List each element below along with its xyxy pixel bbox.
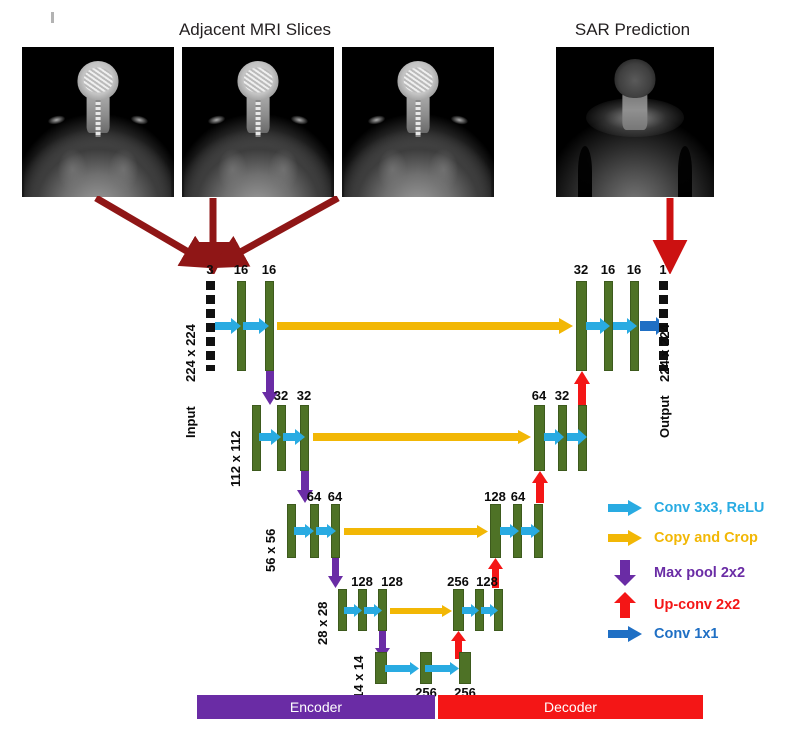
legend-item-conv-1x1: Conv 1x1 <box>608 626 718 642</box>
dec-l3-ch-2: 64 <box>511 489 525 504</box>
sar-prediction-image <box>556 47 714 197</box>
dec-l4-conv-arrows <box>462 604 500 617</box>
enc-l2-conv-arrows <box>259 429 307 445</box>
unet-sar-figure: { "figure": { "title_left": "Adjacent MR… <box>0 0 790 732</box>
mri-slice-3 <box>342 47 494 197</box>
sar-panel-title: SAR Prediction <box>545 20 720 40</box>
skip-l1-copy-crop <box>277 318 573 334</box>
up-conv-arrow-icon <box>608 592 642 618</box>
enc-l3-ch-2: 64 <box>328 489 342 504</box>
enc-l4-ch-1: 128 <box>351 574 373 589</box>
maxpool-l3 <box>328 558 343 588</box>
legend-label-conv-1x1: Conv 1x1 <box>654 626 718 642</box>
dec-l4-ch-1: 256 <box>447 574 469 589</box>
encoder-label: Encoder <box>290 699 342 715</box>
enc-l4-conv-arrows <box>344 604 384 617</box>
output-size-label: 224 x 224 <box>657 324 672 382</box>
encoder-phase-bar: Encoder <box>197 695 435 719</box>
enc-l2-ch-1: 32 <box>274 388 288 403</box>
enc-l1-ch-1: 16 <box>234 262 248 277</box>
skip-l3-copy-crop <box>344 525 488 538</box>
enc-l3-conv-arrows <box>294 524 338 538</box>
dec-l3-ch-1: 128 <box>484 489 506 504</box>
dec-l2-conv-arrows <box>544 429 588 445</box>
l3-size-label: 56 x 56 <box>263 529 278 572</box>
conv-relu-arrow-icon <box>608 500 642 516</box>
bottleneck-size-label: 14 x 14 <box>351 656 366 699</box>
upconv-to-l1 <box>574 371 590 405</box>
enc-l2-ch-2: 32 <box>297 388 311 403</box>
skip-l4-copy-crop <box>390 605 452 617</box>
dec-l1-conv-arrows <box>586 317 666 335</box>
input-tensor-bar <box>206 281 215 371</box>
dec-l1-ch-2: 16 <box>601 262 615 277</box>
corner-artifact-mark <box>51 12 54 23</box>
output-to-sar-arrow <box>650 196 690 274</box>
legend-label-max-pool: Max pool 2x2 <box>654 565 745 581</box>
enc-l1-conv-arrows <box>215 317 271 335</box>
input-channel-label: 3 <box>206 262 213 277</box>
legend-item-max-pool: Max pool 2x2 <box>608 560 745 586</box>
skip-l2-copy-crop <box>313 430 531 444</box>
max-pool-arrow-icon <box>608 560 642 586</box>
dec-l2-ch-2: 32 <box>555 388 569 403</box>
dec-l4-ch-2: 128 <box>476 574 498 589</box>
legend-item-up-conv: Up-conv 2x2 <box>608 592 740 618</box>
legend-item-conv-relu: Conv 3x3, ReLU <box>608 500 764 516</box>
dec-l1-ch-3: 16 <box>627 262 641 277</box>
output-label: Output <box>657 395 672 438</box>
bottleneck-conv-arrows <box>385 662 461 675</box>
l2-size-label: 112 x 112 <box>228 431 243 487</box>
legend-label-up-conv: Up-conv 2x2 <box>654 597 740 613</box>
enc-l4-ch-2: 128 <box>381 574 403 589</box>
l4-size-label: 28 x 28 <box>315 602 330 645</box>
enc-l3-ch-1: 64 <box>307 489 321 504</box>
mri-to-input-arrows <box>80 196 500 274</box>
legend-label-copy-crop: Copy and Crop <box>654 530 758 546</box>
dec-l3-conv-arrows <box>500 524 542 538</box>
mri-slice-1 <box>22 47 174 197</box>
input-label: Input <box>183 406 198 438</box>
mri-slice-2 <box>182 47 334 197</box>
legend-item-copy-crop: Copy and Crop <box>608 530 758 546</box>
dec-l2-ch-1: 64 <box>532 388 546 403</box>
decoder-phase-bar: Decoder <box>438 695 703 719</box>
copy-crop-arrow-icon <box>608 530 642 546</box>
decoder-label: Decoder <box>544 699 597 715</box>
upconv-to-l2 <box>532 471 548 503</box>
dec-l1-ch-1: 32 <box>574 262 588 277</box>
legend-label-conv-relu: Conv 3x3, ReLU <box>654 500 764 516</box>
input-size-label: 224 x 224 <box>183 324 198 382</box>
enc-l1-ch-2: 16 <box>262 262 276 277</box>
output-channel-label: 1 <box>659 262 666 277</box>
conv-1x1-arrow-icon <box>608 626 642 642</box>
mri-panel-title: Adjacent MRI Slices <box>80 20 430 40</box>
